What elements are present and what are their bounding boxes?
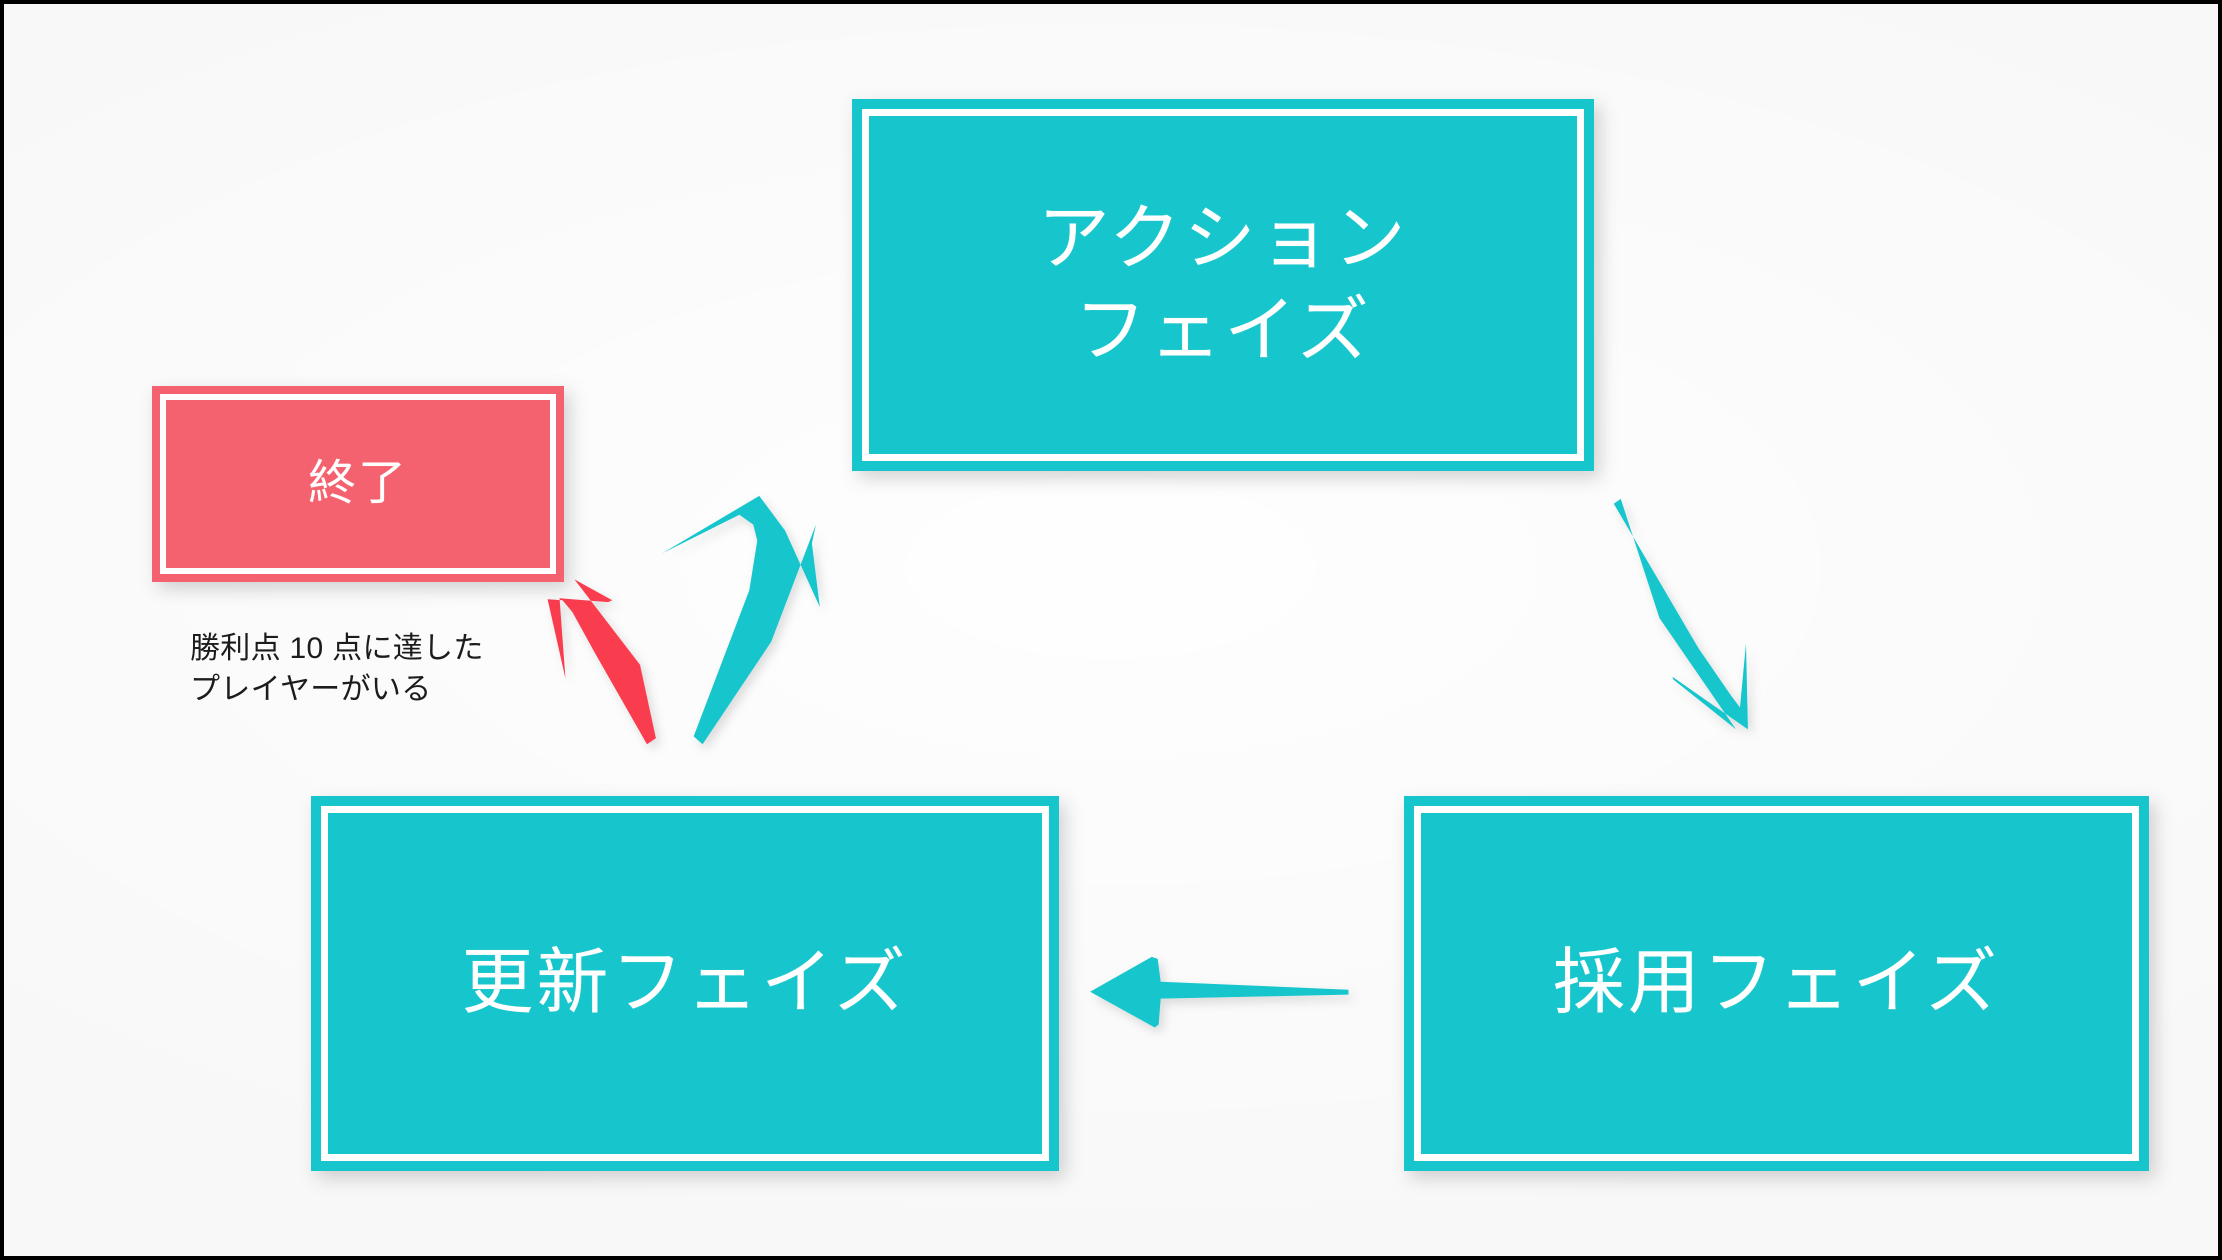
arrow-update-to-end — [548, 579, 656, 744]
phase-card-update-label: 更新フェイズ — [461, 937, 908, 1029]
arrow-recruit-to-update — [1090, 957, 1348, 1028]
phase-card-update[interactable]: 更新フェイズ — [311, 796, 1059, 1171]
phase-card-action-label: アクション フェイズ — [1038, 193, 1409, 377]
arrow-action-to-recruit — [1614, 499, 1748, 730]
phase-card-recruit-label: 採用フェイズ — [1553, 937, 2000, 1029]
diagram-canvas: アクション フェイズ 終了 更新フェイズ 採用フェイズ 勝利点 10 点に達した… — [0, 0, 2222, 1260]
phase-card-recruit[interactable]: 採用フェイズ — [1404, 796, 2149, 1171]
arrow-update-to-action — [662, 496, 820, 744]
terminal-card-end-label: 終了 — [308, 453, 408, 514]
terminal-card-end[interactable]: 終了 — [152, 386, 564, 582]
end-condition-caption: 勝利点 10 点に達した プレイヤーがいる — [190, 628, 520, 711]
phase-card-action[interactable]: アクション フェイズ — [852, 99, 1594, 471]
